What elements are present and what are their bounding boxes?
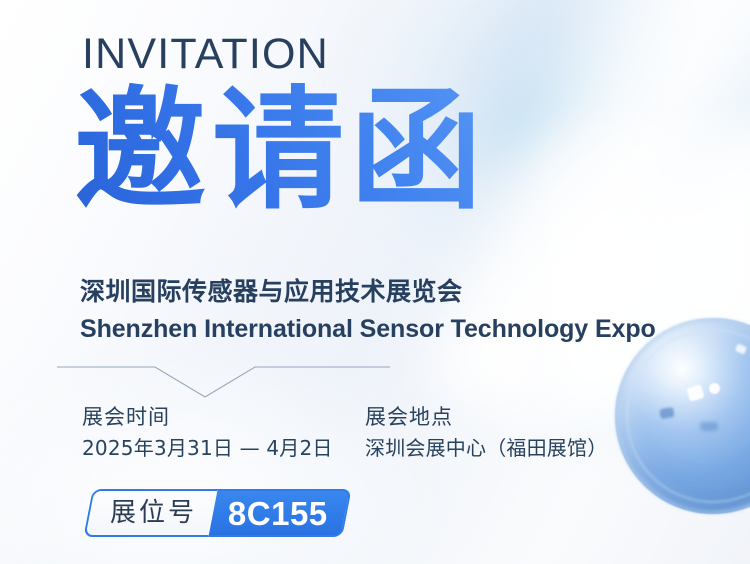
invitation-poster: INVITATION 邀请函 深圳国际传感器与应用技术展览会 Shenzhen … bbox=[0, 0, 750, 564]
expo-name-chinese: 深圳国际传感器与应用技术展览会 bbox=[80, 277, 463, 307]
booth-number-label: 展位号 bbox=[110, 500, 197, 526]
poster-content: INVITATION 邀请函 深圳国际传感器与应用技术展览会 Shenzhen … bbox=[0, 0, 750, 564]
event-location-value: 深圳会展中心（福田展馆） bbox=[365, 436, 607, 461]
chevron-divider-icon bbox=[50, 352, 400, 402]
booth-number-value: 8C155 bbox=[228, 497, 328, 530]
booth-value-container: 8C155 bbox=[208, 489, 351, 537]
booth-label-container: 展位号 bbox=[83, 489, 217, 537]
expo-name-english: Shenzhen International Sensor Technology… bbox=[80, 314, 656, 344]
page-title: 邀请函 bbox=[74, 74, 488, 230]
chevron-divider bbox=[50, 352, 400, 402]
event-time-value: 2025年3月31日 — 4月2日 bbox=[82, 436, 333, 461]
event-time-block: 展会时间 2025年3月31日 — 4月2日 bbox=[82, 404, 333, 461]
heading-english: INVITATION bbox=[82, 33, 329, 76]
event-time-label: 展会时间 bbox=[82, 404, 333, 430]
event-location-label: 展会地点 bbox=[365, 404, 607, 430]
event-location-block: 展会地点 深圳会展中心（福田展馆） bbox=[365, 404, 607, 461]
booth-number-badge: 展位号 8C155 bbox=[83, 489, 351, 537]
